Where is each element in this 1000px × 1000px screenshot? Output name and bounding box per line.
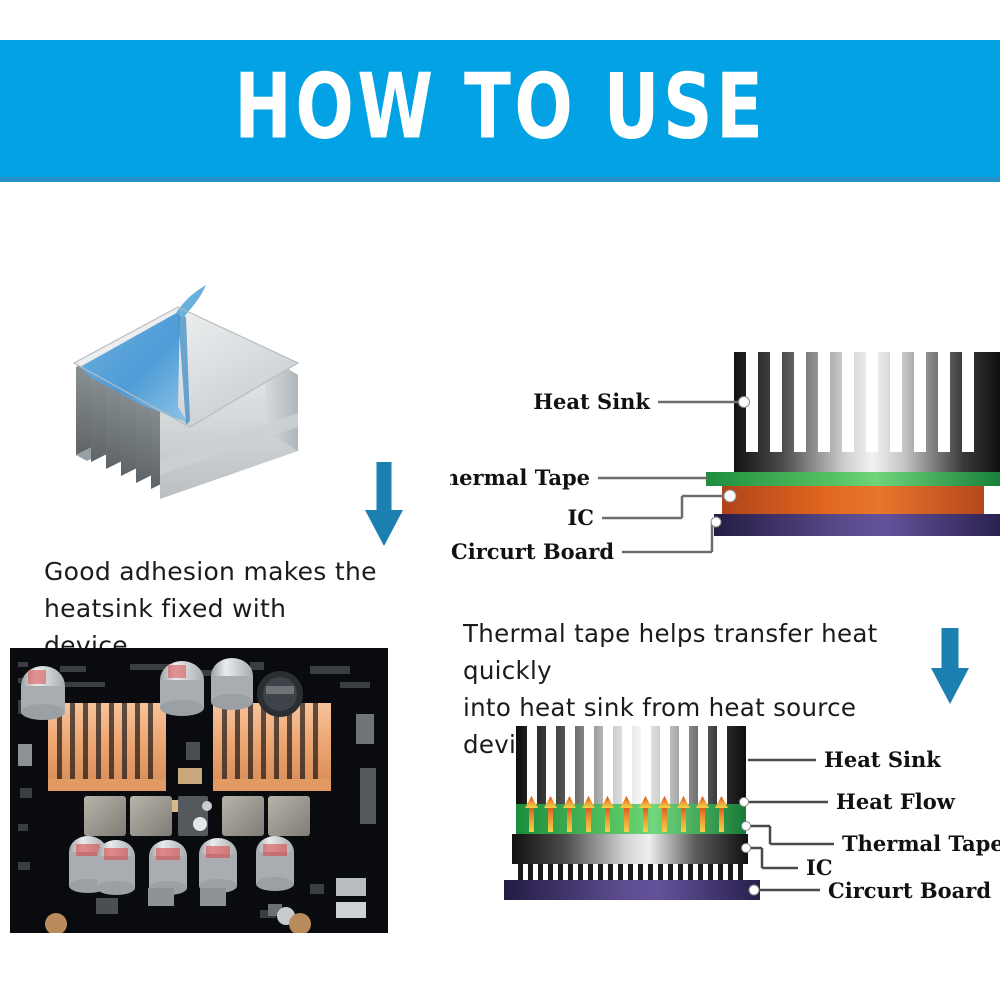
label-heat-flow: Heat Flow [836, 789, 956, 814]
ic-pins [518, 864, 743, 882]
heatsink-product-photo [60, 255, 310, 505]
thermal-tape-layer [706, 472, 1000, 486]
copper-heatsink-left [48, 703, 166, 791]
label-thermal-tape: Thermal Tape [842, 831, 1000, 856]
circuit-board-layer [504, 880, 760, 900]
label-ic: IC [567, 505, 594, 530]
ic-layer [512, 834, 748, 864]
down-arrow-right-icon [928, 628, 972, 704]
arrow-head [365, 510, 403, 546]
label-thermal-tape: Thermal Tape [450, 465, 590, 490]
page-title-text: HOW TO USE [234, 62, 766, 152]
heat-sink-fins [734, 352, 1000, 472]
infographic-canvas: HOW TO USE [0, 0, 1000, 1000]
page-title: HOW TO USE [0, 67, 1000, 147]
diagram-heat-flow: Heat Sink Heat Flow Thermal Tape IC Circ… [498, 722, 1000, 912]
copper-heatsink-right [213, 703, 331, 791]
down-arrow-left-icon [364, 462, 404, 546]
diagram-heatsink-stack: Heat Sink Thermal Tape IC Circurt Board [450, 340, 1000, 580]
arrow-head [931, 668, 969, 704]
ic-layer [722, 486, 984, 514]
pcb-capacitors-bottom [69, 836, 294, 895]
header-banner: HOW TO USE [0, 40, 1000, 182]
label-heat-sink: Heat Sink [533, 389, 650, 414]
label-circuit-board: Circurt Board [828, 878, 991, 903]
circuit-board-layer [714, 514, 1000, 536]
label-circuit-board: Circurt Board [451, 539, 614, 564]
arrow-shaft [942, 628, 959, 670]
label-heat-sink: Heat Sink [824, 747, 941, 772]
pcb-chips [84, 796, 310, 836]
arrow-shaft [377, 462, 392, 512]
label-ic: IC [806, 855, 833, 880]
pcb-photo [10, 648, 388, 933]
